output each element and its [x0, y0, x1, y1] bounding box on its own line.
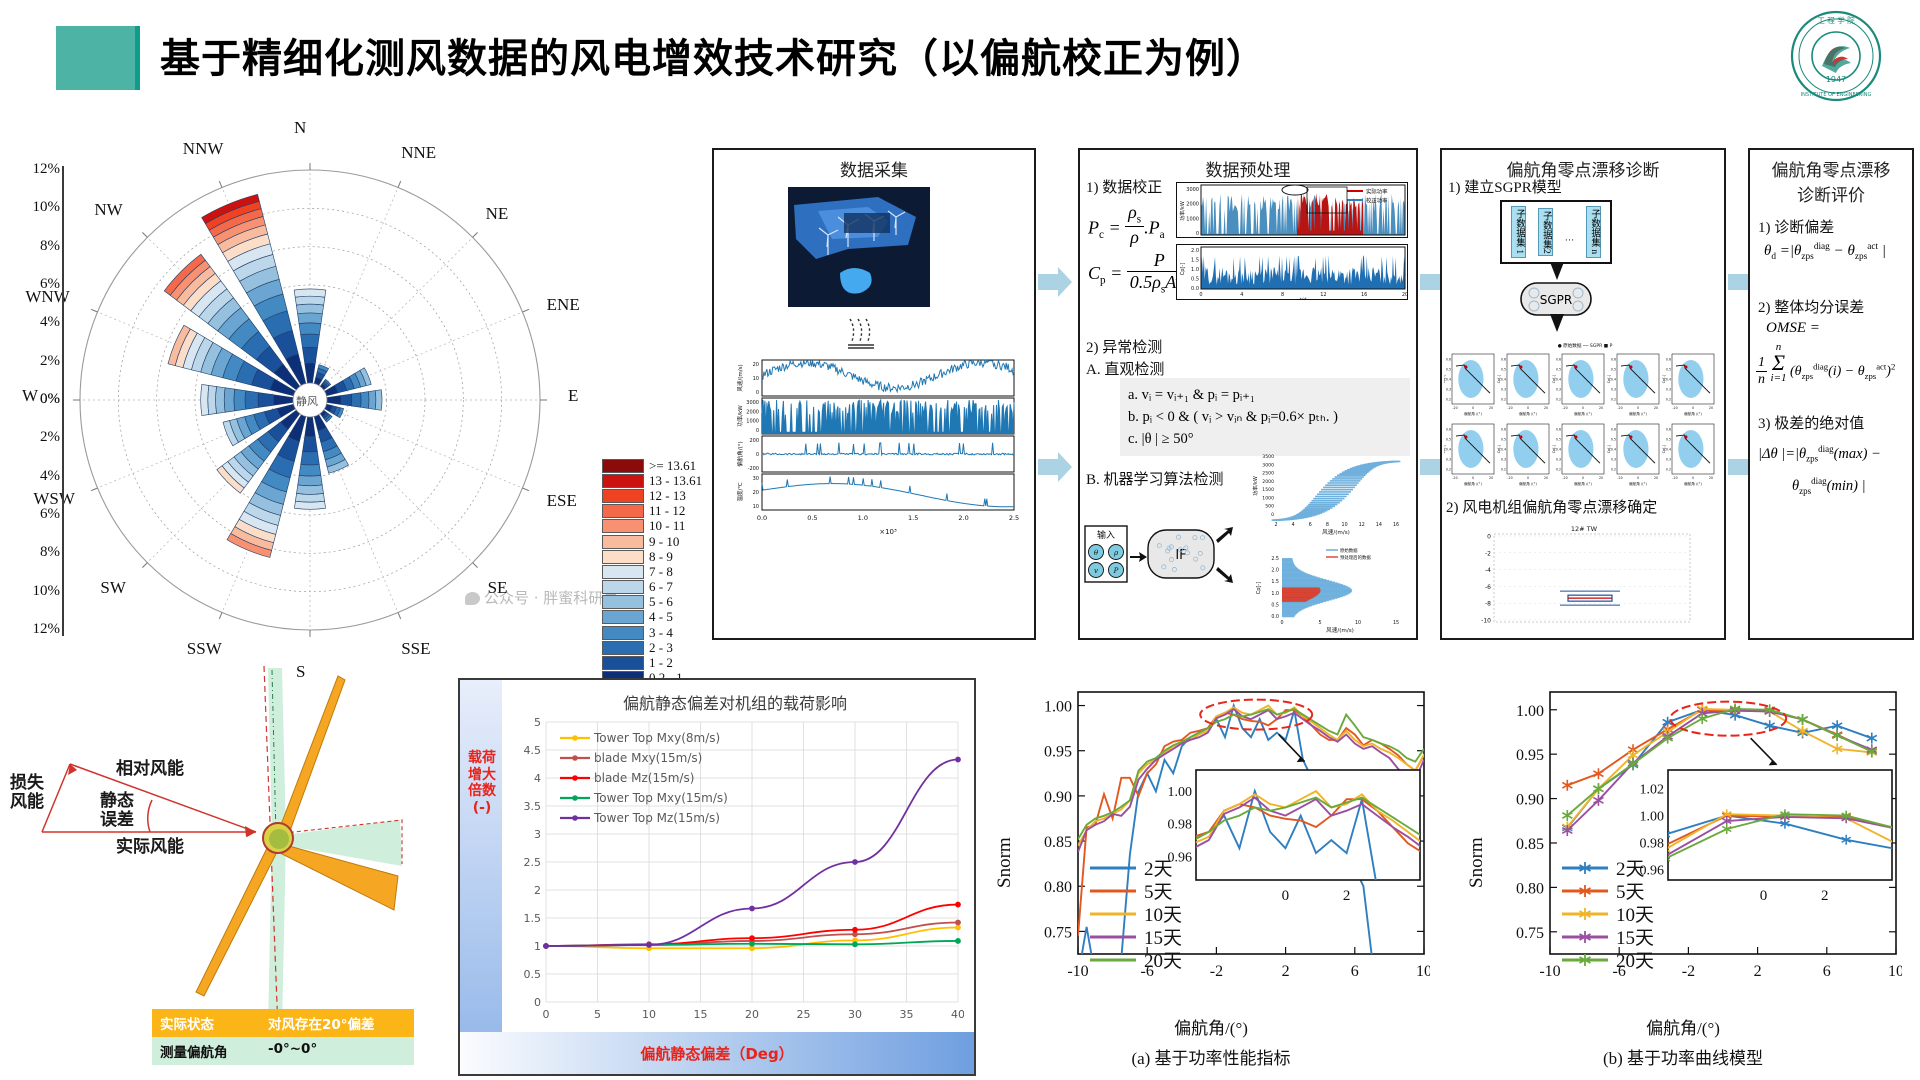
snorm-chart-b: Snorm 0.750.800.850.900.951.00-10-6-2261…: [1448, 678, 1918, 1078]
snorm-xtick: 2: [1282, 963, 1290, 980]
legend-label: 3 - 4: [649, 625, 673, 641]
sgpr-grid-ytick: 0.5: [1501, 438, 1506, 442]
snorm-legend-item: 2天: [1616, 859, 1645, 880]
wind-rose-radial-tick: 8%: [16, 238, 60, 255]
legend-label: 4 - 5: [649, 609, 673, 625]
cell-measured-yaw-key: 测量偏航角: [152, 1037, 260, 1065]
wind-rose-radial-tick: 10%: [16, 583, 60, 600]
legend-label: 5 - 6: [649, 594, 673, 610]
sgpr-grid-ytick: 0.4: [1666, 378, 1671, 382]
legend-swatch: [602, 489, 644, 503]
legend-swatch: [602, 595, 644, 609]
load-chart-left-gradient: [460, 680, 502, 1074]
data-download-icon: [842, 317, 882, 356]
subset-box-2: 子数据集2: [1538, 208, 1553, 257]
chart2-ytick: 1.0: [1191, 267, 1199, 273]
slide-header: 基于精细化测风数据的风电增效技术研究（以偏航校正为例） 1947 工 程 学 院…: [0, 0, 1920, 112]
wind-rose-svg: [10, 120, 700, 640]
sgpr-grid-xtick: 20: [1654, 476, 1658, 480]
sgpr-grid-ytick: 0.3: [1611, 458, 1616, 462]
load-xtick: 30: [848, 1008, 862, 1021]
series-xtick: 1.0: [858, 514, 868, 522]
sgpr-grid-ytick: 0.5: [1611, 368, 1616, 372]
load-ytick: 3: [534, 828, 541, 841]
sgpr-grid-ytick: 0.2: [1611, 468, 1616, 472]
snorm-inset-xtick: 0: [1282, 888, 1290, 904]
sgpr-grid-xtick: 0: [1637, 406, 1639, 410]
wind-rose-direction-NNW: NNW: [183, 139, 224, 159]
snorm-xtick: 2: [1754, 963, 1762, 980]
legend-label: 2 - 3: [649, 640, 673, 656]
sgpr-grid-xtick: 20: [1709, 476, 1713, 480]
legend-label: 8 - 9: [649, 549, 673, 565]
sgpr-grid-ytick: 0.5: [1556, 438, 1561, 442]
sgpr-grid-ytick: 0.5: [1666, 438, 1671, 442]
eval-item-2: 2) 整体均分误差: [1758, 296, 1864, 317]
sgpr-grid-ytick: 0.5: [1501, 368, 1506, 372]
snorm-ytick: 1.00: [1044, 699, 1072, 716]
flow-box-4-title-l1: 偏航角零点漂移: [1750, 156, 1912, 181]
chart1-ylabel: 功率/kW: [1179, 201, 1186, 221]
legend-label: 13 - 13.61: [649, 473, 702, 489]
series-ytick: 3000: [746, 400, 759, 406]
series-x-exponent: ×10³: [879, 528, 897, 536]
snorm-inset-ytick: 0.98: [1168, 818, 1193, 833]
sgpr-grid-ylabel: Cp[-]: [1444, 444, 1446, 453]
legend-swatch: [602, 550, 644, 564]
chart1-ytick: 0: [1196, 231, 1199, 237]
legend-row: 12 - 13: [602, 488, 708, 503]
sgpr-grid-ytick: 0.4: [1611, 448, 1616, 452]
legend-label: 12 - 13: [649, 488, 686, 504]
snorm-ytick: 0.90: [1516, 792, 1544, 809]
sgpr-grid-xtick: -20: [1562, 406, 1567, 410]
scatter2-xtick: 15: [1393, 620, 1399, 626]
series-ytick: 20: [753, 490, 759, 496]
wind-farm-map-image: [788, 187, 930, 307]
sgpr-grid-ytick: 0.6: [1501, 428, 1506, 432]
load-xtick: 25: [797, 1008, 811, 1021]
legend-swatch: [602, 656, 644, 670]
university-logo-icon: 1947 工 程 学 院 INSTITUTE OF ENGINEERING: [1788, 8, 1884, 104]
sgpr-grid-ytick: 0.4: [1501, 448, 1506, 452]
scatter1-ytick: 1000: [1262, 495, 1274, 501]
sgpr-grid-ytick: 0.6: [1446, 428, 1451, 432]
sgpr-grid-ylabel: Cp[-]: [1607, 374, 1611, 383]
snorm-b-ylabel: Snorm: [1466, 837, 1488, 888]
chart2-xtick: 4: [1240, 292, 1243, 298]
label-static-error: 静态 误差: [100, 792, 134, 830]
load-xtick: 35: [900, 1008, 914, 1021]
sgpr-grid-xtick: 20: [1544, 476, 1548, 480]
sgpr-grid-ytick: 0.5: [1611, 438, 1616, 442]
sgpr-grid-ylabel: Cp[-]: [1552, 444, 1556, 453]
sgpr-grid-xtick: -20: [1617, 476, 1622, 480]
sgpr-fit-grid: ● 原始数据 ── SGPR ■ P0.60.50.40.30.2-20020偏…: [1444, 340, 1726, 490]
wind-rose-radial-tick: 10%: [16, 199, 60, 216]
scatter1-ytick: 1500: [1262, 487, 1274, 493]
formula-delta-theta: |Δθ |=|θzpsdiag(max) − θzpsdiag(min) |: [1758, 438, 1881, 501]
snorm-ytick: 1.00: [1516, 703, 1544, 720]
load-ytick: 0.5: [524, 968, 542, 981]
wind-rose-radial-axis: [62, 166, 64, 636]
legend-label: 1 - 2: [649, 655, 673, 671]
flow-box-4-title-l2: 诊断评价: [1750, 181, 1912, 206]
sgpr-grid-ytick: 0.2: [1666, 398, 1671, 402]
chart1-ytick: 1000: [1186, 216, 1199, 222]
snorm-b-caption: (b) 基于功率曲线模型: [1448, 1044, 1918, 1069]
boxplot-title: 12# TW: [1571, 525, 1598, 533]
sgpr-grid-xtick: 20: [1709, 406, 1713, 410]
legend-label: 9 - 10: [649, 534, 679, 550]
state-table: 实际状态 对风存在20°偏差 测量偏航角 -0°~0°: [152, 1009, 414, 1065]
scatter1-xtick: 2: [1274, 522, 1277, 528]
slide-root: 基于精细化测风数据的风电增效技术研究（以偏航校正为例） 1947 工 程 学 院…: [0, 0, 1920, 1080]
sgpr-grid-xtick: -20: [1617, 406, 1622, 410]
chart2-xtick: 20: [1402, 292, 1408, 298]
scatter2-legend-item: 原始数据: [1340, 547, 1358, 554]
if-variable: P: [1113, 567, 1119, 575]
legend-label: 11 - 12: [649, 503, 685, 519]
load-xtick: 0: [543, 1008, 550, 1021]
wind-rose-radial-tick: 6%: [16, 276, 60, 293]
wind-rose-direction-NE: NE: [486, 204, 509, 224]
legend-row: 10 - 11: [602, 519, 708, 534]
scatter2-xtick: 0: [1280, 620, 1283, 626]
sgpr-grid-xtick: -20: [1507, 406, 1512, 410]
sgpr-grid-xtick: -20: [1672, 406, 1677, 410]
legend-label: 10 - 11: [649, 518, 685, 534]
sgpr-grid-ytick: 0.5: [1446, 368, 1451, 372]
legend-swatch: [602, 504, 644, 518]
series-ytick: 0: [756, 428, 759, 434]
if-variable: v: [1094, 567, 1098, 575]
chart2-ylabel: Cp[-]: [1180, 263, 1186, 275]
load-ytick: 4: [534, 772, 541, 785]
load-ytick: 2.5: [524, 856, 542, 869]
legend-row: 1 - 2: [602, 655, 708, 670]
wind-rose-direction-N: N: [294, 118, 306, 138]
scatter1-xtick: 6: [1309, 522, 1312, 528]
preprocess-step2-label: 2) 异常检测: [1086, 336, 1162, 357]
legend-row: 2 - 3: [602, 640, 708, 655]
sgpr-grid-ytick: 0.4: [1666, 448, 1671, 452]
chart2-ytick: 1.5: [1191, 258, 1199, 264]
snorm-a-caption: (a) 基于功率性能指标: [976, 1044, 1446, 1069]
load-chart-plot-area: 00.511.522.533.544.550510152025303540Tow…: [512, 716, 964, 1028]
sgpr-grid-xtick: 20: [1599, 476, 1603, 480]
sgpr-grid-ytick: 0.2: [1501, 468, 1506, 472]
snorm-xtick: 6: [1823, 963, 1831, 980]
legend-label: >= 13.61: [649, 458, 696, 474]
snorm-ytick: 0.75: [1516, 925, 1544, 942]
sgpr-grid-ytick: 0.2: [1556, 468, 1561, 472]
series-ytick: -200: [748, 466, 759, 472]
isolation-forest-diagram: 输入θρvPIF: [1084, 512, 1236, 598]
legend-swatch: [602, 459, 644, 473]
scatter2-xlabel: 风速/(m/s): [1326, 627, 1354, 634]
sgpr-grid-xtick: -20: [1507, 476, 1512, 480]
svg-text:工 程 学 院: 工 程 学 院: [1817, 15, 1855, 25]
sgpr-grid-ytick: 0.6: [1611, 358, 1616, 362]
load-legend-item: Tower Top Mxy(15m/s): [593, 791, 728, 805]
scatter2-ytick: 0.0: [1271, 614, 1279, 620]
sgpr-grid-ytick: 0.4: [1501, 378, 1506, 382]
sgpr-grid-ylabel: Cp[-]: [1444, 374, 1446, 383]
legend-row: >= 13.61: [602, 458, 708, 473]
scatter2-ylabel: Cp[-]: [1256, 582, 1262, 594]
snorm-legend-item: 5天: [1144, 882, 1173, 903]
anomaly-rule-1: a. vᵢ = vᵢ₊₁ & pᵢ = pᵢ₊₁: [1128, 384, 1402, 406]
snorm-xtick: 10: [1416, 963, 1430, 980]
load-legend-item: blade Mxy(15m/s): [594, 751, 702, 765]
table-row: 测量偏航角 -0°~0°: [152, 1037, 414, 1065]
sgpr-grid-ytick: 0.6: [1666, 428, 1671, 432]
boxplot-ytick: -10: [1481, 618, 1491, 625]
wind-rose-radial-tick: 12%: [16, 621, 60, 638]
legend-swatch: [602, 580, 644, 594]
legend-row: 5 - 6: [602, 595, 708, 610]
series-ylabel: 功率/kW: [736, 405, 744, 427]
scatter1-xtick: 12: [1359, 522, 1365, 528]
legend-label: 7 - 8: [649, 564, 673, 580]
sgpr-grid-xlabel: 偏航角 /(°): [1629, 411, 1647, 416]
if-input-label: 输入: [1097, 529, 1115, 541]
snorm-legend-item: 20天: [1144, 951, 1182, 972]
snorm-ytick: 0.90: [1044, 789, 1072, 806]
snorm-ytick: 0.75: [1044, 924, 1072, 941]
boxplot-ytick: -8: [1485, 601, 1491, 608]
page-title: 基于精细化测风数据的风电增效技术研究（以偏航校正为例）: [160, 28, 1720, 90]
sgpr-grid-xtick: 20: [1654, 406, 1658, 410]
series-xtick: 0.5: [807, 514, 817, 522]
scatter2-ytick: 1.5: [1271, 579, 1279, 585]
down-arrow-icon-2: [1548, 314, 1566, 334]
snorm-ytick: 0.85: [1516, 836, 1544, 853]
logo-year: 1947: [1826, 75, 1846, 84]
load-xtick: 15: [694, 1008, 708, 1021]
chart2-xtick: 0: [1199, 292, 1202, 298]
scatter2-ytick: 2.0: [1271, 568, 1279, 574]
anomaly-rules-box: a. vᵢ = vᵢ₊₁ & pᵢ = pᵢ₊₁b. pᵢ < 0 & ( vᵢ…: [1120, 378, 1410, 456]
legend-row: 8 - 9: [602, 549, 708, 564]
sgpr-grid-xtick: 0: [1692, 476, 1694, 480]
series-xtick: 2.0: [958, 514, 968, 522]
series-ytick: 200: [749, 438, 759, 444]
sgpr-grid-xlabel: 偏航角 /(°): [1684, 481, 1702, 486]
snorm-ytick: 0.80: [1044, 879, 1072, 896]
legend-swatch: [602, 626, 644, 640]
sgpr-grid-ytick: 0.3: [1446, 388, 1451, 392]
eval-item-1: 1) 诊断偏差: [1758, 216, 1834, 237]
formula-omse-body: 1 n n Σ i=1 (θzpsdiag(i) − θzpsact)2: [1756, 342, 1895, 388]
anomaly-rule-2: b. pᵢ < 0 & ( vᵢ > vᵢₙ & pᵢ=0.6× pₜₕ. ): [1128, 406, 1402, 428]
load-chart-title: 偏航静态偏差对机组的载荷影响: [502, 690, 968, 714]
power-curve-scatter: 3500300025002000150010005000246810121416…: [1248, 450, 1408, 536]
sgpr-grid-ytick: 0.4: [1611, 378, 1616, 382]
sgpr-grid-ylabel: Cp[-]: [1662, 374, 1666, 383]
sgpr-grid-ytick: 0.3: [1501, 388, 1506, 392]
load-chart-xlabel: 偏航静态偏差（Deg）: [460, 1043, 974, 1064]
sgpr-grid-xtick: 0: [1582, 476, 1584, 480]
sgpr-grid-ytick: 0.2: [1611, 398, 1616, 402]
scatter2-xtick: 10: [1355, 620, 1361, 626]
load-legend-item: blade Mz(15m/s): [594, 771, 694, 785]
subset-box-3: ···: [1565, 218, 1575, 247]
boxplot-ytick: -2: [1485, 550, 1491, 557]
sgpr-grid-ytick: 0.4: [1556, 378, 1561, 382]
load-legend-item: Tower Top Mz(15m/s): [593, 811, 720, 825]
sgpr-grid-xtick: -20: [1672, 476, 1677, 480]
scatter1-ytick: 0: [1271, 512, 1274, 518]
sgpr-grid-ytick: 0.3: [1611, 388, 1616, 392]
cell-actual-state-value: 对风存在20°偏差: [260, 1009, 414, 1037]
snorm-chart-a: Snorm 0.750.800.850.900.951.00-10-6-2261…: [976, 678, 1446, 1078]
chart1-legend-item: 校正功率: [1366, 196, 1388, 204]
legend-row: 6 - 7: [602, 580, 708, 595]
legend-row: 11 - 12: [602, 504, 708, 519]
flow-arrow-1: [1038, 265, 1072, 299]
chart2-xtick: 8: [1281, 292, 1284, 298]
scatter1-xtick: 8: [1326, 522, 1329, 528]
snorm-ytick: 0.95: [1044, 744, 1072, 761]
scada-timeseries-panel: 风速/(m/s)20100功率/kW3000200010000偏航角/(°)20…: [728, 358, 1024, 540]
sgpr-grid-xtick: 0: [1692, 406, 1694, 410]
chart1-ytick: 2000: [1186, 202, 1199, 208]
wind-rose-direction-ENE: ENE: [547, 295, 580, 315]
flow-box-zero-point-diagnosis: 偏航角零点漂移诊断 1) 建立SGPR模型 子数据集 1子数据集2···子数据集…: [1440, 148, 1726, 640]
snorm-inset-xtick: 2: [1343, 888, 1351, 904]
legend-row: 13 - 13.61: [602, 473, 708, 488]
series-xtick: 1.5: [908, 514, 918, 522]
legend-swatch: [602, 641, 644, 655]
wind-rose-direction-NW: NW: [94, 200, 122, 220]
scatter1-xtick: 4: [1292, 522, 1295, 528]
series-ylabel: 风速/(m/s): [737, 364, 744, 391]
preprocess-step2b-label: B. 机器学习算法检测: [1086, 468, 1224, 489]
scatter1-ytick: 2500: [1262, 471, 1274, 477]
label-actual-energy: 实际风能: [116, 838, 184, 857]
flow-arrow-1b: [1038, 450, 1072, 484]
sgpr-grid-xlabel: 偏航角 /(°): [1464, 481, 1482, 486]
sgpr-grid-xlabel: 偏航角 /(°): [1574, 481, 1592, 486]
sgpr-grid-xtick: 0: [1582, 406, 1584, 410]
wind-rose-radial-tick: 2%: [16, 429, 60, 446]
snorm-inset-ytick: 1.00: [1640, 810, 1665, 825]
wind-rose-legend: >= 13.6113 - 13.6112 - 1311 - 1210 - 119…: [602, 458, 708, 686]
scatter2-xtick: 5: [1318, 620, 1321, 626]
snorm-legend-item: 10天: [1144, 905, 1182, 926]
boxplot-ytick: -6: [1485, 584, 1491, 591]
scatter1-ytick: 500: [1265, 504, 1274, 510]
sgpr-grid-ytick: 0.2: [1666, 468, 1671, 472]
sgpr-grid-ytick: 0.3: [1446, 458, 1451, 462]
sgpr-grid-ylabel: Cp[-]: [1552, 374, 1556, 383]
load-ytick: 1.5: [524, 912, 542, 925]
snorm-legend-item: 5天: [1616, 882, 1645, 903]
formula-theta-d: θd =|θzpsdiag − θzpsact |: [1764, 242, 1886, 262]
sgpr-grid-xlabel: 偏航角 /(°): [1629, 481, 1647, 486]
load-ytick: 3.5: [524, 800, 542, 813]
snorm-a-plot: 0.750.800.850.900.951.00-10-6-226100.960…: [1032, 686, 1430, 988]
series-ytick: 20: [753, 362, 759, 368]
sgpr-grid-xtick: 0: [1527, 406, 1529, 410]
wind-rose-radial-tick: 0%: [16, 391, 60, 408]
sgpr-grid-ytick: 0.3: [1501, 458, 1506, 462]
sgpr-grid-ytick: 0.4: [1446, 378, 1451, 382]
preprocess-step2a-label: A. 直观检测: [1086, 358, 1164, 379]
load-impact-chart: 载荷增大倍数 (-) 偏航静态偏差（Deg） 偏航静态偏差对机组的载荷影响 00…: [458, 678, 976, 1076]
series-ytick: 30: [753, 476, 759, 482]
sgpr-grid-ytick: 0.6: [1501, 358, 1506, 362]
cp-timeseries-chart: 2.01.51.00.50.0048121620t/dCp[-]: [1176, 244, 1408, 300]
snorm-inset-xtick: 0: [1760, 888, 1768, 904]
load-xtick: 20: [745, 1008, 759, 1021]
load-legend-item: Tower Top Mxy(8m/s): [593, 731, 720, 745]
sgpr-grid-xtick: 0: [1637, 476, 1639, 480]
sgpr-grid-xtick: -20: [1562, 476, 1567, 480]
legend-swatch: [602, 519, 644, 533]
chart2-ytick: 2.0: [1191, 248, 1199, 254]
scatter2-legend-item: 预处理后的数据: [1340, 554, 1371, 561]
wind-rose-direction-E: E: [568, 386, 578, 406]
scatter2-ytick: 0.5: [1271, 602, 1279, 608]
chart2-xtick: 12: [1320, 292, 1326, 298]
label-relative-energy: 相对风能: [116, 760, 184, 779]
legend-row: 9 - 10: [602, 534, 708, 549]
snorm-xtick: -10: [1067, 963, 1088, 980]
snorm-b-plot: 0.750.800.850.900.951.00-10-6-226100.960…: [1504, 686, 1902, 988]
series-xtick: 2.5: [1009, 514, 1019, 522]
wind-rose-direction-SE: SE: [488, 578, 508, 598]
formula-omse: OMSE =: [1766, 320, 1820, 337]
chart2-xtick: 16: [1361, 292, 1367, 298]
diag-step1-label: 1) 建立SGPR模型: [1448, 176, 1562, 197]
series-ytick: 10: [753, 504, 759, 510]
sgpr-grid-ytick: 0.4: [1556, 448, 1561, 452]
cp-scatter: 2.52.01.51.00.50.0051015风速/(m/s)Cp[-]原始数…: [1248, 542, 1408, 634]
boxplot-ytick: 0: [1487, 534, 1491, 541]
wind-rose-radial-tick: 2%: [16, 353, 60, 370]
snorm-inset-ytick: 1.02: [1640, 783, 1665, 798]
flow-box-data-collection: 数据采集 风速: [712, 148, 1036, 640]
snorm-legend-item: 15天: [1144, 928, 1182, 949]
snorm-xtick: -2: [1210, 963, 1223, 980]
legend-swatch: [602, 565, 644, 579]
snorm-a-xlabel: 偏航角/(°): [976, 1014, 1446, 1039]
wind-rose-radial-tick: 8%: [16, 544, 60, 561]
load-ytick: 4.5: [524, 744, 542, 757]
sgpr-grid-ytick: 0.6: [1556, 358, 1561, 362]
series-ylabel: 偏航角/(°): [736, 441, 744, 466]
sgpr-grid-ytick: 0.6: [1666, 358, 1671, 362]
sgpr-grid-ytick: 0.3: [1556, 388, 1561, 392]
chart2-ytick: 0.5: [1191, 277, 1199, 283]
snorm-xtick: -10: [1539, 963, 1560, 980]
series-ytick: 0: [756, 390, 759, 396]
series-ylabel: 温度/℃: [736, 482, 744, 501]
series-ytick: 2000: [746, 409, 759, 415]
cell-actual-state-key: 实际状态: [152, 1009, 260, 1037]
wind-rose-radial-tick: 4%: [16, 468, 60, 485]
snorm-inset-ytick: 1.00: [1168, 785, 1193, 800]
cell-measured-yaw-value: -0°~0°: [260, 1037, 414, 1065]
load-ytick: 1: [534, 940, 541, 953]
wind-rose-chart: 静风 公众号 · 胖蜜科研巢 NNNENEENEEESESESSESSSWSWW…: [10, 120, 700, 640]
scatter1-xtick: 16: [1393, 522, 1399, 528]
sgpr-grid-xlabel: 偏航角 /(°): [1464, 411, 1482, 416]
sgpr-label: SGPR: [1540, 293, 1573, 307]
